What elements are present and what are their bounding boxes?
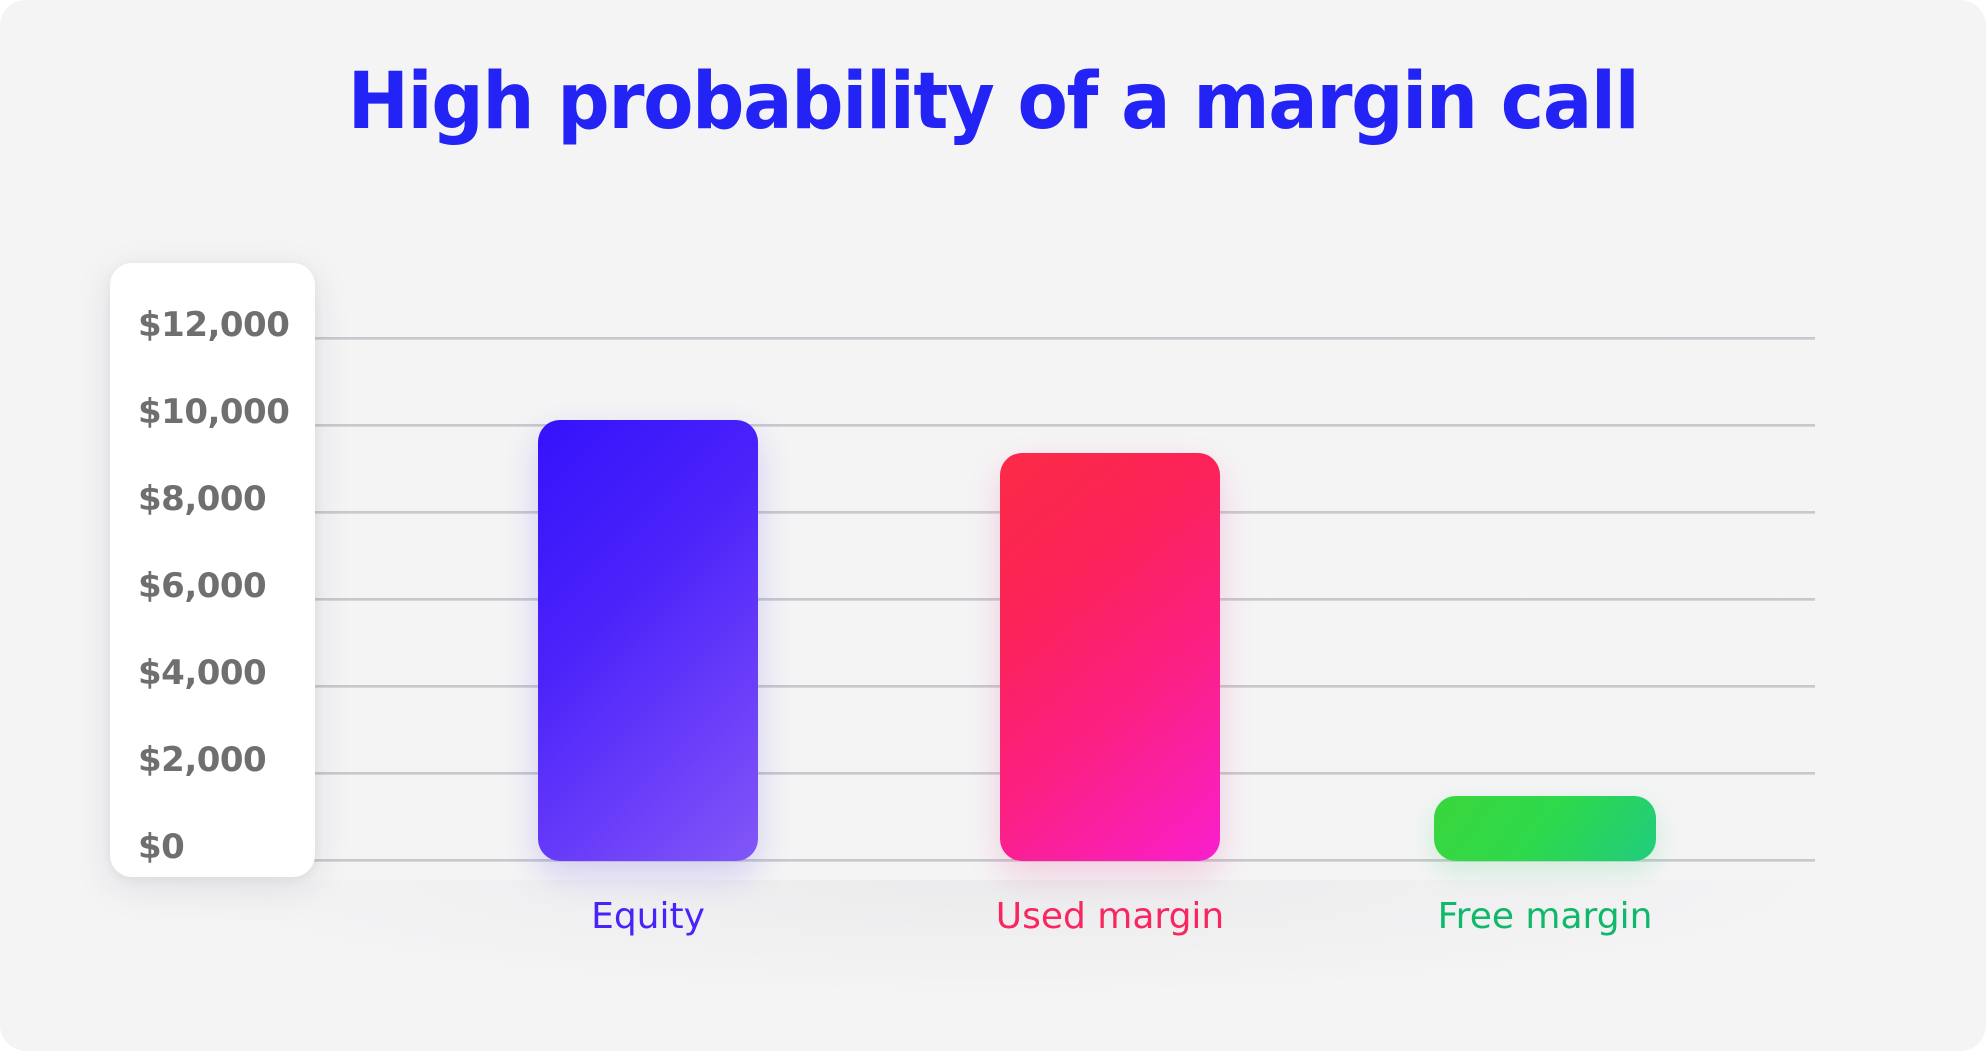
x-label-used-margin: Used margin [960,896,1260,937]
y-tick-label: $12,000 [138,305,289,345]
x-label-equity: Equity [538,896,758,937]
bar-free-margin[interactable] [1434,796,1656,861]
gridline-12000 [220,337,1815,340]
y-tick-label: $4,000 [138,653,266,693]
y-axis-card: $12,000 $10,000 $8,000 $6,000 $4,000 $2,… [110,263,315,877]
bar-used-margin[interactable] [1000,453,1220,861]
y-tick-label: $10,000 [138,392,289,432]
y-tick-label: $2,000 [138,740,266,780]
y-tick-label: $0 [138,827,184,867]
page-title: High probability of a margin call [60,62,1927,144]
chart-canvas: High probability of a margin call $12,00… [0,0,1986,1051]
x-label-free-margin: Free margin [1395,896,1695,937]
y-tick-label: $6,000 [138,566,266,606]
y-tick-label: $8,000 [138,479,266,519]
gridline-10000 [220,424,1815,427]
bar-equity[interactable] [538,420,758,861]
